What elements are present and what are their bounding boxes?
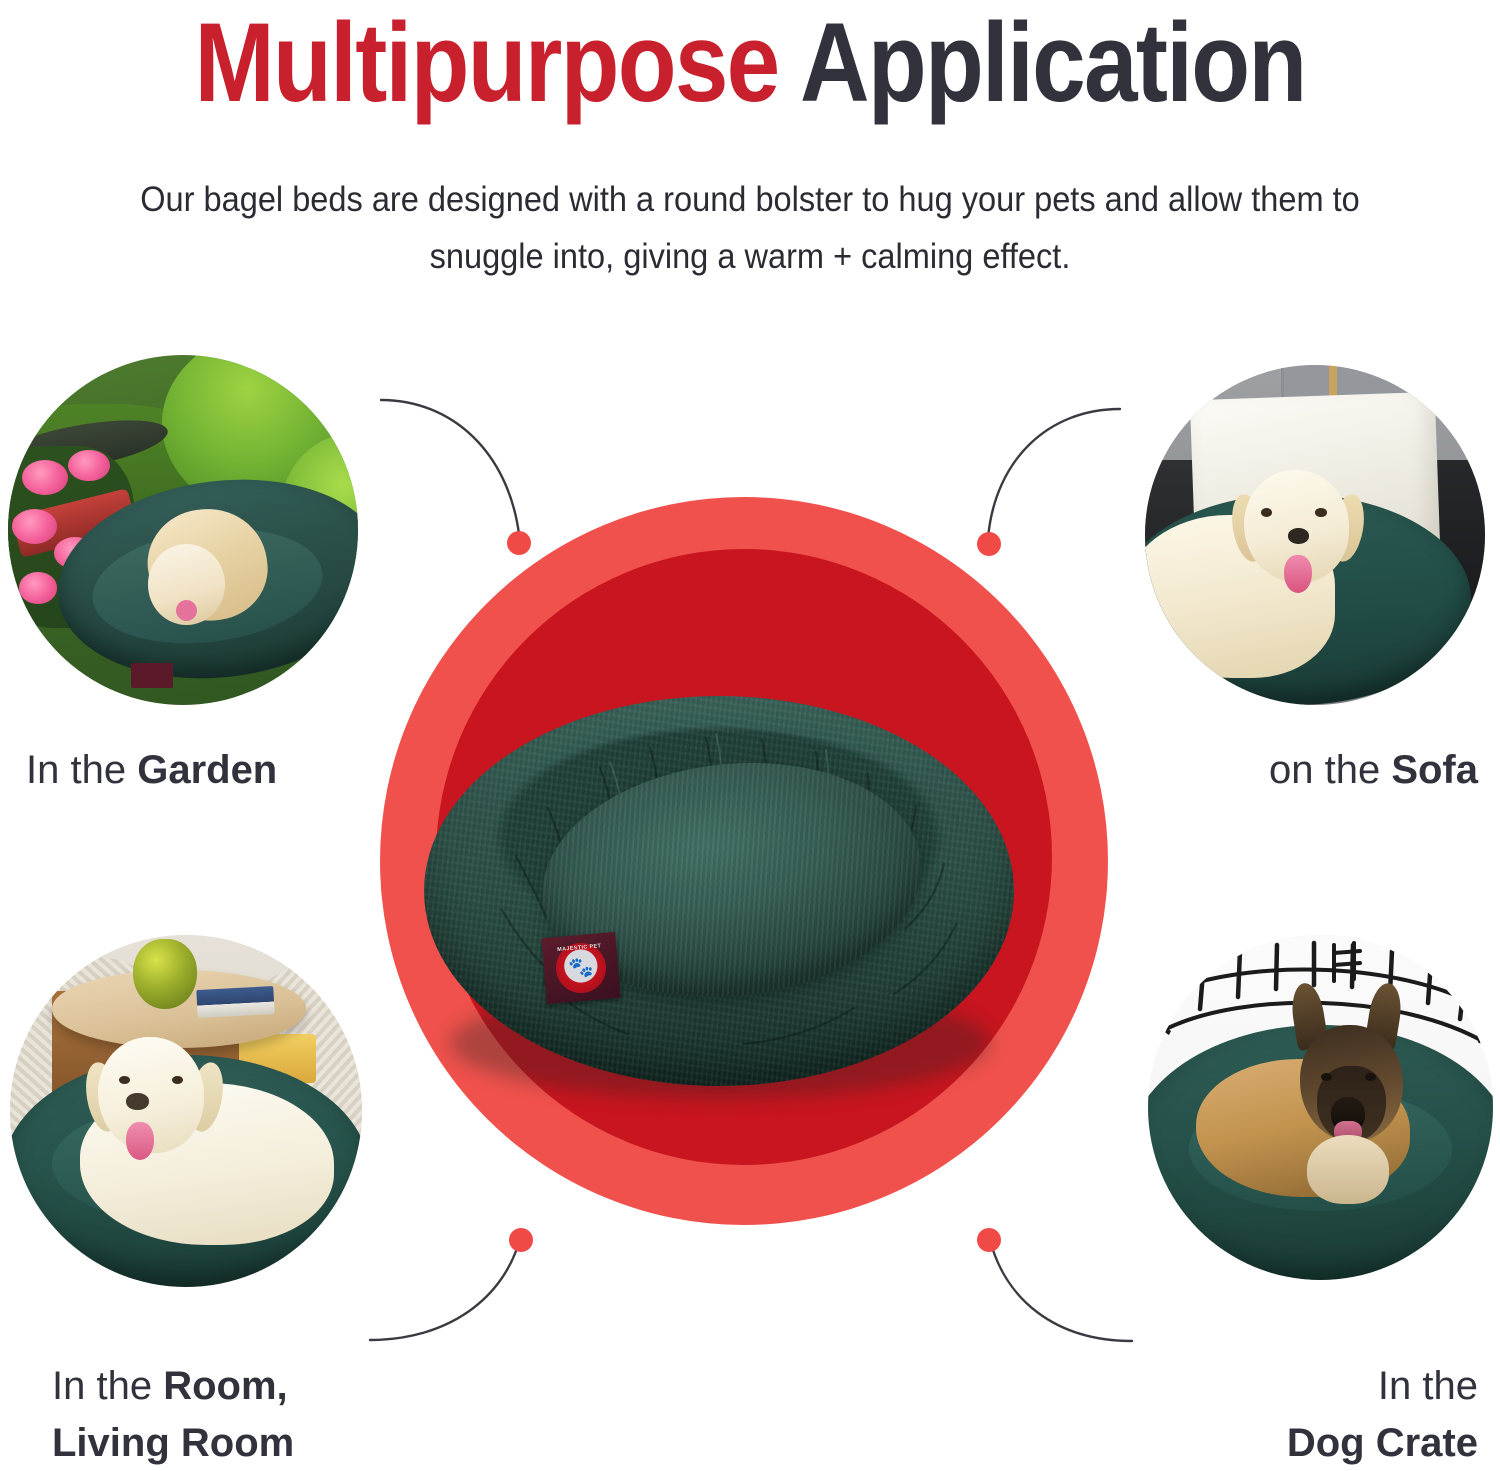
callout-photo-living-room: [10, 935, 362, 1287]
garden-blossom: [12, 509, 58, 544]
infographic-page: Multipurpose Application Our bagel beds …: [0, 0, 1500, 1471]
sofa-dog-eye-right: [1315, 508, 1327, 517]
caption-sofa-emphasis: Sofa: [1391, 748, 1478, 792]
green-glass-vase: [133, 939, 196, 1009]
caption-crate-line2: Dog Crate: [1287, 1421, 1478, 1465]
garden-bed-brand-tag: [131, 663, 173, 688]
sofa-dog-nose: [1288, 528, 1309, 544]
page-title-part1: Multipurpose: [195, 0, 779, 125]
brand-tag-disc: 🐾 MAJESTIC PET: [554, 941, 608, 995]
caption-garden-prefix: In the: [26, 748, 137, 792]
living-room-scene: [10, 935, 362, 1287]
living-room-dog-nose: [126, 1093, 149, 1110]
caption-dog-crate: In theDog Crate: [1160, 1358, 1478, 1471]
page-title: Multipurpose Application: [105, 6, 1395, 120]
garden-scene: [8, 355, 358, 705]
crate-dog-chest: [1307, 1135, 1390, 1204]
page-subtitle: Our bagel beds are designed with a round…: [90, 172, 1411, 285]
caption-sofa: on the Sofa: [1178, 742, 1478, 799]
connector-line-crate: [989, 1236, 1132, 1341]
brand-tag-label: MAJESTIC PET: [554, 941, 608, 995]
connector-dot-garden: [507, 531, 531, 555]
crate-dog-eye-left: [1321, 1073, 1332, 1081]
callout-photo-sofa: [1145, 365, 1485, 705]
caption-sofa-prefix: on the: [1269, 748, 1391, 792]
caption-room-line2: Living Room: [52, 1421, 294, 1465]
sofa-dog-tongue: [1284, 555, 1311, 592]
connector-line-garden: [381, 400, 519, 534]
connector-dot-room: [509, 1228, 533, 1252]
sofa-scene: [1145, 365, 1485, 705]
caption-crate-prefix: In the: [1378, 1364, 1478, 1408]
caption-living-room: In the Room,Living Room: [52, 1358, 294, 1471]
garden-dog-tongue: [176, 600, 197, 621]
stacked-books: [196, 986, 275, 1018]
callout-photo-dog-crate: [1148, 935, 1493, 1280]
brand-tag: 🐾 MAJESTIC PET: [541, 932, 620, 1004]
product-image-bagel-bed: 🐾 MAJESTIC PET: [424, 688, 1014, 1108]
garden-blossom: [68, 450, 110, 482]
garden-blossom: [19, 572, 58, 604]
caption-room-prefix: In the: [52, 1364, 163, 1408]
connector-dot-crate: [977, 1228, 1001, 1252]
caption-garden-emphasis: Garden: [137, 748, 277, 792]
page-title-part2: Application: [800, 0, 1305, 125]
caption-garden: In the Garden: [26, 742, 277, 799]
connector-dot-sofa: [977, 532, 1001, 556]
connector-line-sofa: [988, 409, 1120, 538]
connector-line-room: [370, 1235, 521, 1340]
garden-blossom: [22, 460, 68, 495]
sofa-dog-eye-left: [1261, 508, 1273, 517]
callout-photo-garden: [8, 355, 358, 705]
dog-crate-scene: [1148, 935, 1493, 1280]
caption-room-emphasis: Room,: [163, 1364, 287, 1408]
